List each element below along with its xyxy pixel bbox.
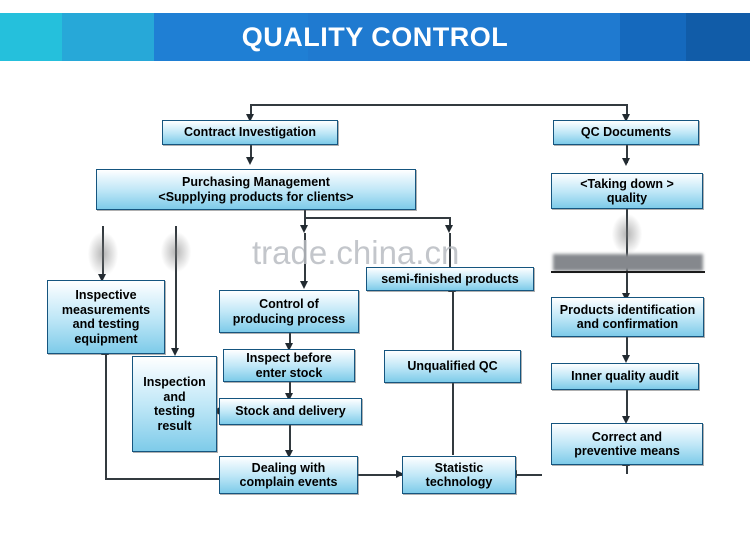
node-statistic-technology[interactable]: Statistictechnology — [402, 456, 516, 494]
node-products-identification[interactable]: Products identificationand confirmation — [551, 297, 704, 337]
connector-top-bus — [250, 104, 627, 106]
node-inspective-measurements[interactable]: Inspectivemeasurementsand testingequipme… — [47, 280, 165, 354]
header-band-6 — [686, 13, 750, 61]
flowchart-canvas: QUALITY CONTROL — [0, 0, 750, 534]
node-label-inner-quality-audit: Inner quality audit — [568, 369, 682, 384]
arrow-to-inner-quality-audit — [622, 355, 630, 363]
arrow-to-taking-down-quality — [622, 158, 630, 166]
arrow-bus-center — [300, 225, 308, 233]
connector-takingdown-down — [626, 209, 628, 297]
node-purchasing-management[interactable]: Purchasing Management<Supplying products… — [96, 169, 416, 210]
redaction-underline — [551, 271, 705, 273]
connector-statistic-to-unqualified — [452, 383, 454, 455]
node-label-products-identification: Products identificationand confirmation — [557, 303, 698, 332]
node-label-stock-and-delivery: Stock and delivery — [232, 404, 348, 419]
connector-correct-to-statistic — [516, 474, 542, 476]
redaction-bar — [553, 254, 703, 271]
node-label-correct-and-preventive-means: Correct andpreventive means — [571, 430, 683, 459]
node-label-inspective-measurements: Inspectivemeasurementsand testingequipme… — [59, 288, 153, 346]
node-taking-down-quality[interactable]: <Taking down >quality — [551, 173, 703, 209]
connector-dealing-return-h — [105, 478, 222, 480]
node-qc-documents[interactable]: QC Documents — [553, 120, 699, 145]
header-band-2 — [62, 13, 154, 61]
arrow-bus-right — [445, 225, 453, 233]
node-dealing-with-complain-events[interactable]: Dealing withcomplain events — [219, 456, 358, 494]
node-label-inspection-and-testing-result: Inspectionandtestingresult — [140, 375, 209, 433]
connector-left-drop-inspective — [102, 226, 104, 278]
node-contract-investigation[interactable]: Contract Investigation — [162, 120, 338, 145]
node-label-contract-investigation: Contract Investigation — [181, 125, 319, 140]
arrow-to-purchasing-management — [246, 157, 254, 165]
connector-drop-inspection-result — [175, 226, 177, 352]
node-label-dealing-with-complain-events: Dealing withcomplain events — [237, 461, 341, 490]
node-stock-and-delivery[interactable]: Stock and delivery — [219, 398, 362, 425]
node-label-qc-documents: QC Documents — [578, 125, 674, 140]
watermark: trade.china.cn — [252, 234, 459, 272]
node-inspect-before-enter-stock[interactable]: Inspect beforeenter stock — [223, 349, 355, 382]
node-control-of-producing-process[interactable]: Control ofproducing process — [219, 290, 359, 333]
connector-dealing-return-v — [105, 354, 107, 479]
node-correct-and-preventive-means[interactable]: Correct andpreventive means — [551, 423, 703, 465]
header-band-1 — [0, 13, 62, 61]
node-label-purchasing-management: Purchasing Management<Supplying products… — [155, 175, 356, 204]
node-label-inspect-before-enter-stock: Inspect beforeenter stock — [243, 351, 334, 380]
node-label-semi-finished-products: semi-finished products — [378, 272, 522, 287]
connector-unqualified-to-semifinished — [452, 290, 454, 350]
header-band-5 — [620, 13, 686, 61]
connector-purchasing-bus — [304, 217, 450, 219]
node-unqualified-qc[interactable]: Unqualified QC — [384, 350, 521, 383]
header-banner — [0, 13, 750, 61]
node-label-control-of-producing-process: Control ofproducing process — [230, 297, 349, 326]
connector-correct-bottom-stem — [626, 465, 628, 474]
node-label-statistic-technology: Statistictechnology — [423, 461, 496, 490]
node-label-taking-down-quality: <Taking down >quality — [577, 177, 677, 206]
connector-bottom-return-h — [105, 478, 107, 480]
header-band-3 — [154, 13, 308, 61]
node-inspection-and-testing-result[interactable]: Inspectionandtestingresult — [132, 356, 217, 452]
node-inner-quality-audit[interactable]: Inner quality audit — [551, 363, 699, 390]
arrow-to-inspection-and-testing-result — [171, 348, 179, 356]
node-label-unqualified-qc: Unqualified QC — [404, 359, 500, 374]
arrow-to-control-of-producing-process — [300, 281, 308, 289]
header-band-4 — [308, 13, 620, 61]
